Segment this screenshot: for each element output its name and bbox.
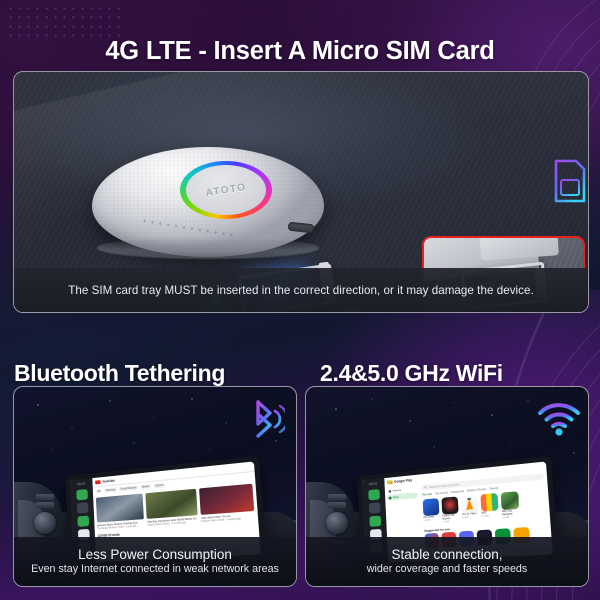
app-tile[interactable]: Silky City Navigator 6.2 MB: [501, 491, 520, 520]
chip-music[interactable]: Music: [140, 483, 151, 489]
x-mark-icon: ✕: [492, 312, 523, 313]
brand-logo: ATOTO: [176, 154, 276, 226]
bluetooth-caption-box: Less Power Consumption Even stay Interne…: [14, 537, 296, 586]
app-tile[interactable]: Mix Songs 8.1 MB: [423, 498, 440, 525]
device-rim: [97, 237, 320, 259]
vlc-cone-icon: [461, 495, 479, 513]
app-icon: [461, 495, 479, 513]
rgb-led-ring: ATOTO: [180, 161, 272, 219]
promo-image: 4G LTE - Insert A Micro SIM Card ATOTO ✓: [0, 0, 600, 600]
app-icon: [501, 491, 520, 510]
app-tile[interactable]: VLC for Video 30 MB: [461, 495, 479, 523]
video-card[interactable]: Workout Music Routine Training Gym The B…: [96, 494, 145, 531]
volume-knob[interactable]: [326, 512, 348, 534]
page-title: 4G LTE - Insert A Micro SIM Card: [0, 37, 600, 66]
youtube-logo-icon: [95, 480, 101, 484]
bluetooth-section-heading: Bluetooth Tethering: [14, 360, 225, 387]
rail-clock: 09:41: [77, 482, 86, 487]
rail-clock: 09:41: [369, 482, 378, 487]
wifi-caption-title: Stable connection,: [391, 547, 502, 562]
chip-gaming[interactable]: Gaming: [104, 487, 117, 493]
games-icon: [388, 489, 391, 492]
control-button-top[interactable]: [328, 494, 346, 500]
app-tile[interactable]: Fastest Wifi Booster 2.4 MB: [441, 496, 459, 524]
video-card[interactable]: Look who's here, it's me Channel Name Vi…: [199, 484, 255, 523]
apps-icon: [389, 496, 392, 499]
sim-card-icon: [552, 158, 588, 204]
atoto-device: ATOTO: [92, 147, 324, 257]
search-placeholder: Search for apps & games: [429, 482, 459, 489]
app-title: YouTube: [102, 478, 115, 483]
video-thumbnail: [199, 484, 255, 515]
search-icon: [424, 486, 427, 490]
bluetooth-caption-title: Less Power Consumption: [78, 547, 232, 562]
rail-icon-settings[interactable]: [76, 502, 88, 513]
control-button-second[interactable]: [328, 502, 346, 508]
nav-item-apps-label: Apps: [393, 495, 399, 499]
app-tile[interactable]: Mi11 1.5 MB: [480, 493, 499, 521]
wifi-icon: [537, 400, 581, 436]
bluetooth-icon: [245, 398, 285, 440]
wifi-caption-sub: wider coverage and faster speeds: [367, 563, 527, 576]
play-store-logo-icon: [387, 480, 393, 484]
wifi-caption-box: Stable connection, wider coverage and fa…: [306, 537, 588, 586]
rail-icon-phone[interactable]: [368, 489, 380, 500]
app-icon: [423, 498, 440, 516]
app-size: 1.5 MB: [482, 514, 499, 518]
video-card[interactable]: This Boy Introduces How World Works On C…: [146, 489, 198, 527]
rail-icon-phone[interactable]: [76, 489, 88, 500]
app-title: Google Play: [394, 478, 412, 484]
chip-sports[interactable]: Sports: [153, 482, 165, 488]
rail-icon-settings[interactable]: [368, 502, 380, 513]
nav-item-games-label: Games: [392, 488, 401, 493]
app-icon: [480, 493, 498, 512]
wifi-section-heading: 2.4&5.0 GHz WiFi: [320, 360, 503, 387]
rail-icon-messages[interactable]: [77, 516, 89, 527]
control-button-second[interactable]: [36, 502, 54, 508]
sim-installation-panel: ATOTO ✓ ✕: [13, 71, 589, 313]
video-thumbnail: [146, 489, 198, 519]
control-button-top[interactable]: [36, 494, 54, 500]
chip-all[interactable]: All: [95, 488, 102, 493]
dot-grid-decoration: [6, 4, 126, 38]
volume-knob[interactable]: [34, 512, 56, 534]
video-thumbnail: [96, 494, 144, 523]
app-icon: [441, 496, 458, 514]
bluetooth-caption-sub: Even stay Internet connected in weak net…: [31, 563, 279, 576]
app-size: 2.4 MB: [443, 520, 460, 524]
rail-icon-messages[interactable]: [369, 516, 381, 527]
warning-caption-text: The SIM card tray MUST be inserted in th…: [68, 284, 534, 297]
warning-caption-bar: The SIM card tray MUST be inserted in th…: [14, 268, 588, 312]
